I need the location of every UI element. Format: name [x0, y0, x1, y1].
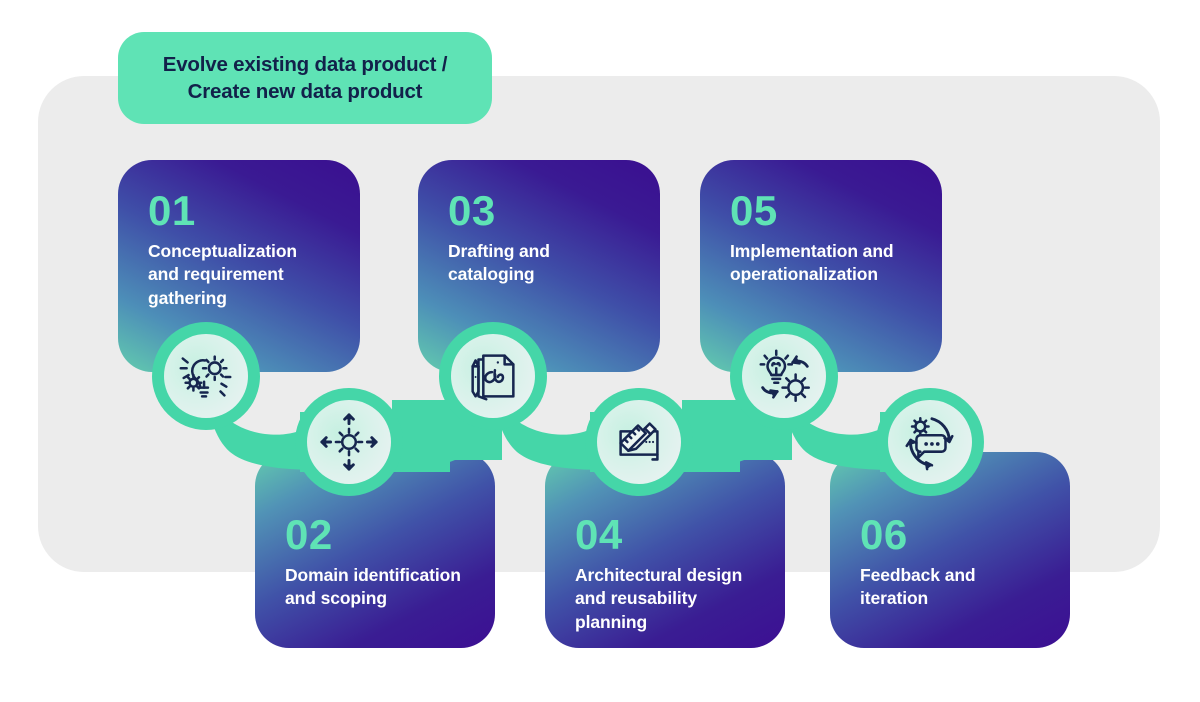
icon-disc: [307, 400, 391, 484]
step-title: Domain identification and scoping: [285, 564, 485, 611]
step-icon-node-05[interactable]: [730, 322, 838, 430]
icon-disc: [597, 400, 681, 484]
step-number: 05: [730, 190, 778, 232]
step-title: Implementation and operationalization: [730, 240, 925, 287]
header-banner-text: Evolve existing data product / Create ne…: [163, 51, 447, 105]
step-title: Architectural design and reusability pla…: [575, 564, 775, 634]
icon-disc: [742, 334, 826, 418]
step-icon-node-04[interactable]: [585, 388, 693, 496]
step-number: 02: [285, 514, 333, 556]
step-icon-node-01[interactable]: [152, 322, 260, 430]
icon-disc: [451, 334, 535, 418]
step-icon-node-03[interactable]: [439, 322, 547, 430]
chat-gear-refresh-icon: [899, 411, 961, 473]
icon-disc: [164, 334, 248, 418]
step-number: 01: [148, 190, 196, 232]
gear-four-arrows-icon: [318, 411, 380, 473]
icon-disc: [888, 400, 972, 484]
step-icon-node-06[interactable]: [876, 388, 984, 496]
ruler-pencil-blueprint-icon: [608, 411, 670, 473]
step-number: 03: [448, 190, 496, 232]
infographic-canvas: 01 Conceptualization and requirement gat…: [0, 0, 1200, 702]
step-title: Drafting and cataloging: [448, 240, 643, 287]
step-title: Feedback and iteration: [860, 564, 1060, 611]
documents-pencil-icon: [462, 345, 524, 407]
step-icon-node-02[interactable]: [295, 388, 403, 496]
lightbulb-gear-cycle-icon: [753, 345, 815, 407]
step-title: Conceptualization and requirement gather…: [148, 240, 343, 310]
lightbulb-gears-icon: [175, 345, 237, 407]
step-number: 06: [860, 514, 908, 556]
header-banner: Evolve existing data product / Create ne…: [118, 32, 492, 124]
step-number: 04: [575, 514, 623, 556]
